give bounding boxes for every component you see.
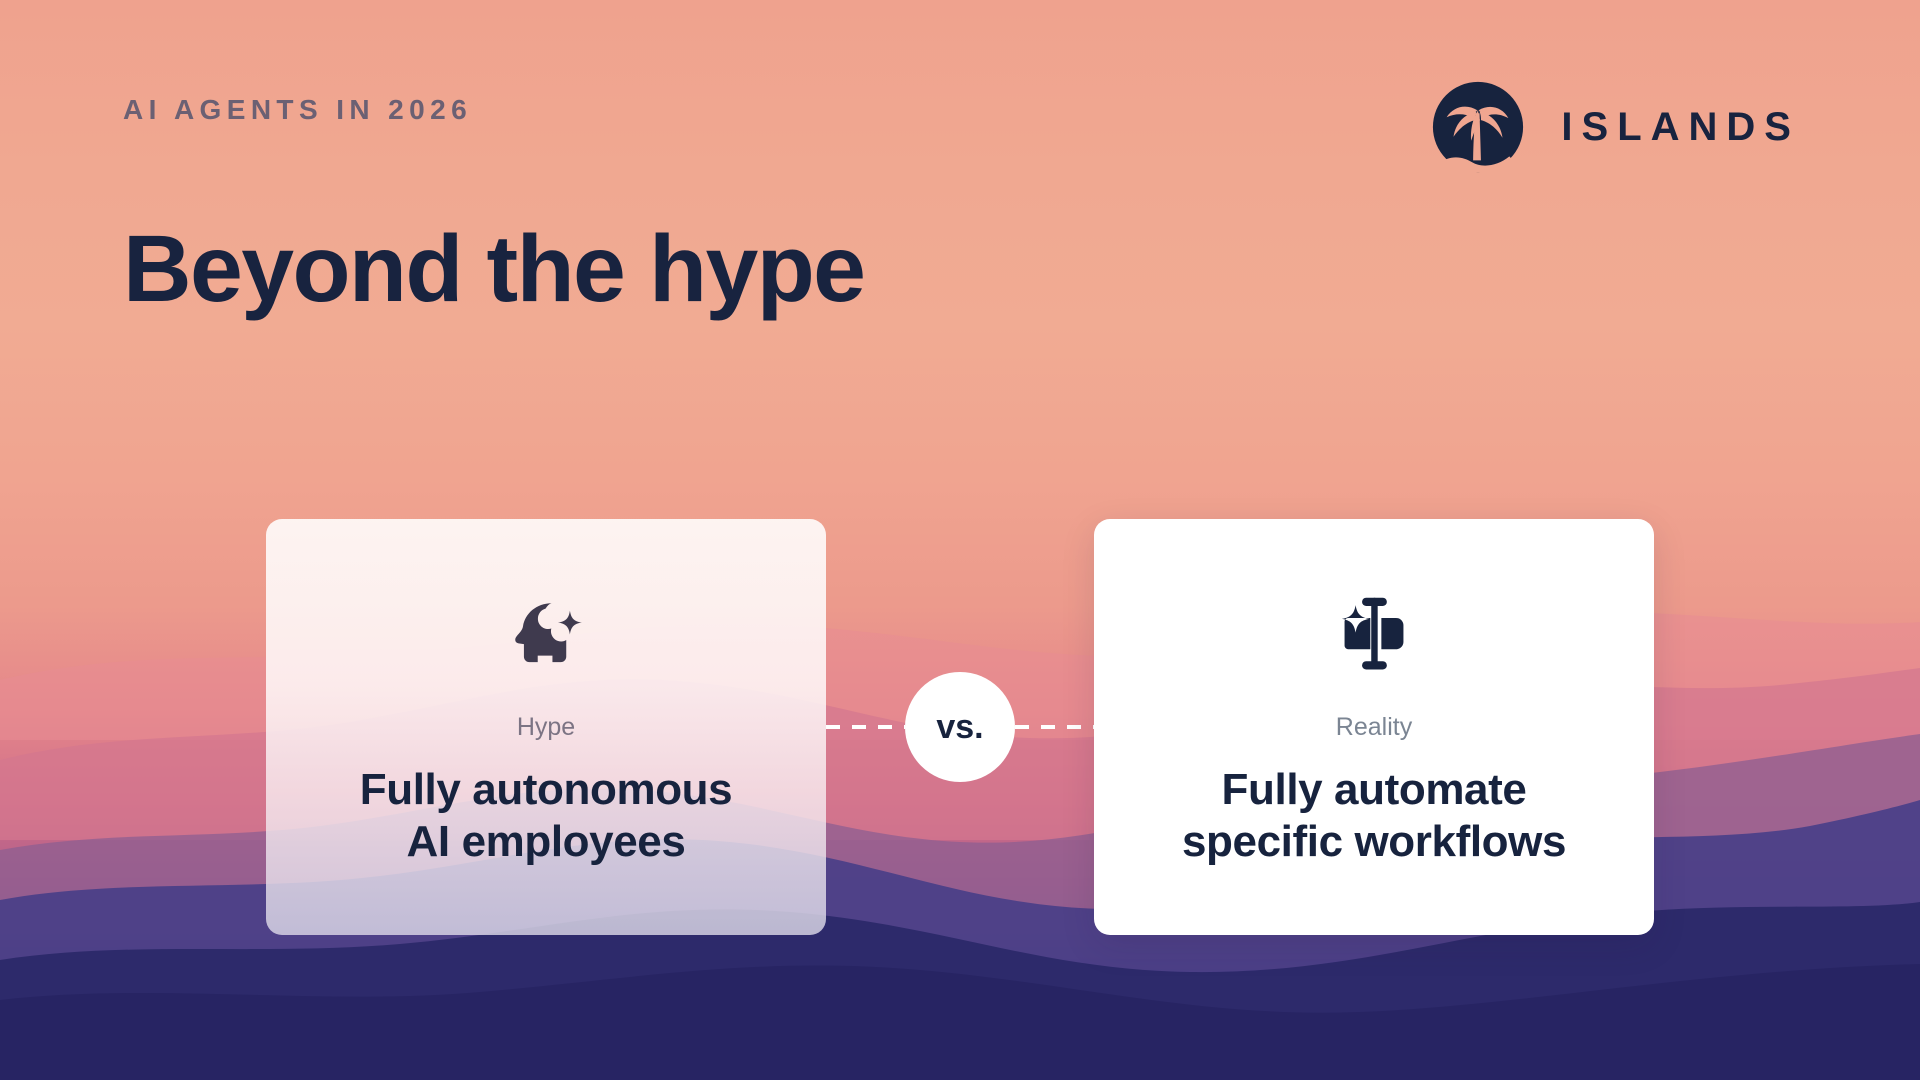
vs-badge: vs. [905,672,1015,782]
header: AI AGENTS IN 2026 [0,0,1920,176]
eyebrow-label: AI AGENTS IN 2026 [123,96,472,124]
card-title-hype-line2: AI employees [407,817,686,866]
card-title-reality-line1: Fully automate [1222,765,1527,814]
mountain-ridge-base [0,930,1920,1080]
dashed-line-right [1015,725,1094,729]
comparison-separator: vs. [826,519,1094,935]
comparison-card-hype[interactable]: Hype Fully autonomous AI employees [266,519,826,935]
card-title-hype: Fully autonomous AI employees [360,764,732,868]
brand-logo: ISLANDS [1429,78,1800,176]
card-title-hype-line1: Fully autonomous [360,765,732,814]
card-title-reality-line2: specific workflows [1182,817,1566,866]
page-title: Beyond the hype [123,222,864,317]
dashed-line-left [826,725,905,729]
card-title-reality: Fully automate specific workflows [1182,764,1566,868]
card-label-hype: Hype [517,715,575,740]
workflow-sparkle-icon [1328,581,1420,677]
head-sparkle-icon [500,581,592,677]
comparison-section: Hype Fully autonomous AI employees vs. [266,519,1654,935]
comparison-card-reality[interactable]: Reality Fully automate specific workflow… [1094,519,1654,935]
card-label-reality: Reality [1336,715,1412,740]
vs-label: vs. [936,710,983,744]
brand-name: ISLANDS [1561,107,1800,147]
palm-tree-circle-icon [1429,78,1527,176]
